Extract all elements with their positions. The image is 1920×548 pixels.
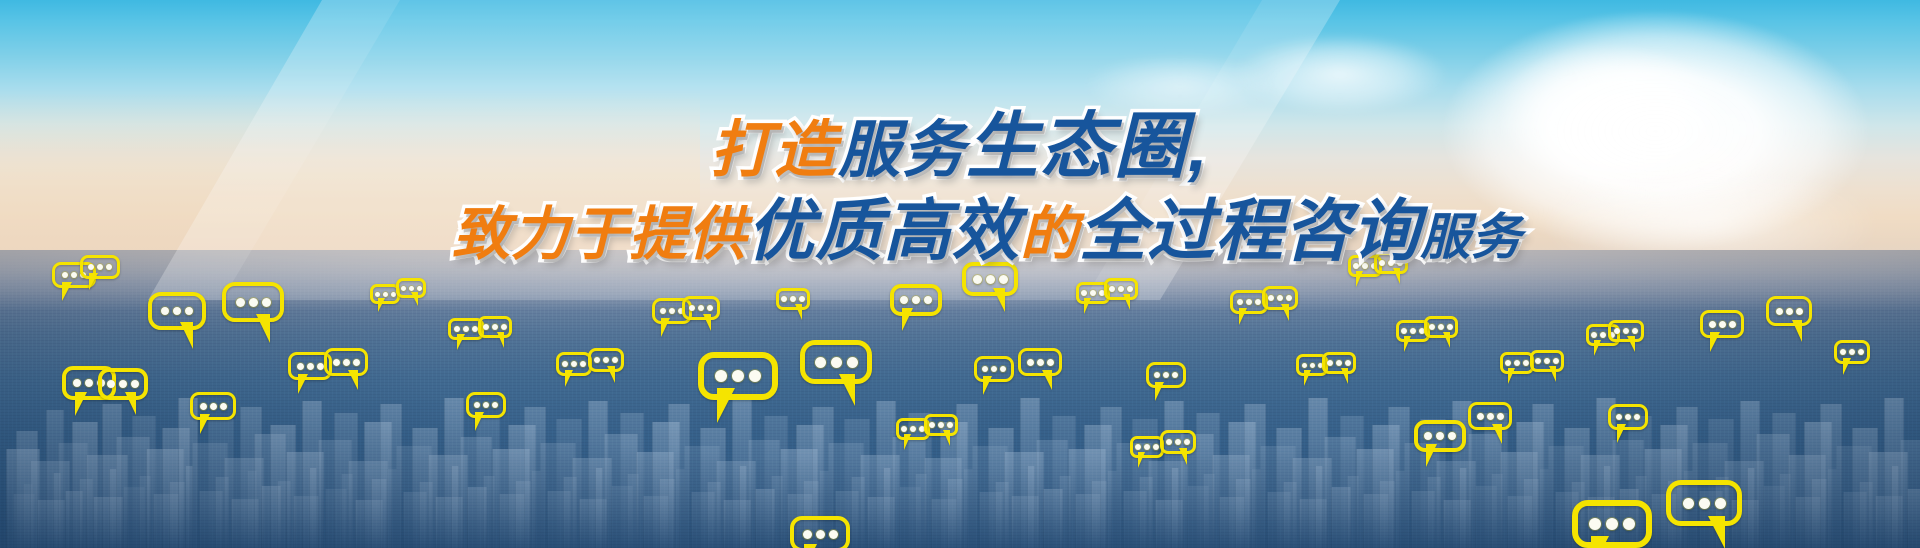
bubble-dot-icon: [1302, 363, 1307, 368]
bubble-tail-icon: [1179, 448, 1187, 465]
speech-bubble-icon: [890, 284, 942, 316]
bubble-dot-icon: [173, 307, 181, 315]
bubble-tail-icon: [1549, 366, 1556, 382]
bubble-dot-icon: [669, 308, 675, 314]
speech-bubble-icon: [1608, 320, 1644, 342]
speech-bubble-icon: [1530, 350, 1564, 372]
headline-line-2: 致力于提供优质高效的全过程咨询服务: [54, 198, 1920, 265]
bubble-dot-icon: [1544, 358, 1550, 364]
bubble-tail-icon: [1304, 370, 1311, 386]
bubble-dot-icon: [1729, 321, 1736, 328]
bubble-tail-icon: [1042, 370, 1052, 390]
bubble-dot-icon: [1448, 432, 1456, 440]
bubble-dot-icon: [131, 380, 139, 388]
bubble-tail-icon: [1138, 452, 1145, 468]
bubble-dot-icon: [973, 275, 982, 284]
bubble-tail-icon: [717, 388, 735, 423]
bubble-dot-icon: [912, 296, 920, 304]
bubble-dot-icon: [1487, 413, 1494, 420]
bubble-dot-icon: [1237, 299, 1243, 305]
bubble-dot-icon: [483, 402, 489, 408]
speech-bubble-icon: [1146, 362, 1186, 388]
bubble-dot-icon: [73, 379, 81, 387]
bubble-dot-icon: [249, 298, 258, 307]
bubble-dot-icon: [1840, 349, 1846, 355]
headline-segment: 优质高效: [747, 198, 1020, 265]
headline-segment: 打造: [710, 120, 838, 182]
bubble-tail-icon: [607, 366, 615, 383]
bubble-dot-icon: [492, 324, 498, 330]
bubble-tail-icon: [1393, 268, 1400, 284]
bubble-dot-icon: [929, 422, 935, 428]
bubble-dot-icon: [1109, 286, 1115, 292]
bubble-tail-icon: [475, 412, 484, 431]
bubble-dot-icon: [732, 370, 744, 382]
bubble-dot-icon: [781, 296, 787, 302]
speech-bubble-icon: [924, 414, 958, 436]
speech-bubble-icon: [478, 316, 512, 338]
speech-bubble-icon: [588, 348, 624, 372]
speech-bubble-icon: [790, 516, 850, 548]
speech-bubble-icon: [556, 352, 592, 376]
speech-bubble-icon: [682, 296, 720, 320]
bubble-dot-icon: [1286, 295, 1292, 301]
speech-bubble-icon: [776, 288, 810, 310]
speech-bubble-icon: [1834, 340, 1870, 364]
speech-bubble-icon: [98, 368, 148, 400]
bubble-dot-icon: [1424, 432, 1432, 440]
bubble-tail-icon: [565, 370, 573, 387]
bubble-dot-icon: [1535, 358, 1541, 364]
headline-block: 打造服务生态圈, 致力于提供优质高效的全过程咨询服务: [0, 112, 1920, 265]
bubble-dot-icon: [463, 326, 469, 332]
bubble-dot-icon: [297, 363, 304, 370]
bubble-dot-icon: [1623, 328, 1629, 334]
bubble-tail-icon: [457, 334, 465, 350]
headline-segment: 全过程咨询: [1079, 198, 1420, 265]
bubble-dot-icon: [409, 286, 414, 291]
bubble-tail-icon: [1710, 332, 1720, 352]
headline-segment: 致力于提供: [452, 206, 747, 264]
speech-bubble-icon: [800, 340, 872, 384]
bubble-dot-icon: [333, 359, 340, 366]
bubble-dot-icon: [1000, 366, 1006, 372]
bubble-dot-icon: [107, 380, 115, 388]
bubble-dot-icon: [999, 275, 1008, 284]
bubble-dot-icon: [1118, 286, 1124, 292]
headline-segment: 服务: [838, 120, 966, 182]
bubble-dot-icon: [847, 357, 858, 368]
bubble-dot-icon: [1429, 324, 1435, 330]
bubble-tail-icon: [904, 434, 911, 450]
bubble-dot-icon: [571, 361, 577, 367]
bubble-dot-icon: [1144, 444, 1150, 450]
hero-banner: 打造服务生态圈, 致力于提供优质高效的全过程咨询服务: [0, 0, 1920, 548]
bubble-tail-icon: [378, 298, 385, 312]
bubble-dot-icon: [1410, 328, 1416, 334]
speech-bubble-icon: [1500, 352, 1534, 374]
bubble-dot-icon: [1154, 372, 1160, 378]
bubble-dot-icon: [1514, 360, 1520, 366]
bubble-dot-icon: [594, 357, 600, 363]
bubble-dot-icon: [1401, 328, 1407, 334]
bubble-dot-icon: [85, 379, 93, 387]
speech-bubble-icon: [1018, 348, 1062, 376]
bubble-dot-icon: [1849, 349, 1855, 355]
bubble-dot-icon: [1699, 498, 1710, 509]
speech-bubble-icon: [466, 392, 506, 418]
bubble-dot-icon: [799, 296, 805, 302]
bubble-dot-icon: [603, 357, 609, 363]
bubble-dot-icon: [1436, 432, 1444, 440]
speech-bubble-icon: [1424, 316, 1458, 338]
speech-bubble-icon: [190, 392, 236, 420]
bubble-dot-icon: [1345, 360, 1351, 366]
bubble-dot-icon: [1715, 498, 1726, 509]
bubble-tail-icon: [1843, 358, 1851, 375]
bubble-dot-icon: [383, 292, 388, 297]
bubble-tail-icon: [993, 288, 1005, 312]
bubble-tail-icon: [1281, 304, 1289, 321]
bubble-dot-icon: [220, 403, 227, 410]
bubble-dot-icon: [986, 275, 995, 284]
bubble-tail-icon: [795, 304, 802, 320]
speech-bubble-icon: [1468, 402, 1512, 430]
bubble-dot-icon: [1175, 439, 1181, 445]
bubble-dot-icon: [71, 272, 77, 278]
speech-bubble-icon: [1104, 278, 1138, 300]
speech-bubble-icon: [1666, 480, 1742, 526]
bubble-dot-icon: [1719, 321, 1726, 328]
bubble-tail-icon: [497, 332, 504, 348]
bubble-dot-icon: [1776, 308, 1783, 315]
bubble-dot-icon: [698, 305, 704, 311]
bubble-dot-icon: [1277, 295, 1283, 301]
bubble-dot-icon: [1625, 414, 1631, 420]
bubble-dot-icon: [200, 403, 207, 410]
speech-bubble-icon: [148, 292, 206, 330]
bubble-tail-icon: [1708, 516, 1725, 548]
speech-bubble-icon: [1700, 310, 1744, 338]
bubble-tail-icon: [1341, 368, 1348, 384]
bubble-tail-icon: [62, 282, 72, 301]
bubble-tail-icon: [661, 318, 670, 337]
bubble-tail-icon: [75, 392, 87, 416]
bubble-dot-icon: [1523, 360, 1529, 366]
speech-bubble-icon: [698, 352, 778, 400]
bubble-dot-icon: [62, 272, 68, 278]
bubble-dot-icon: [562, 361, 568, 367]
speech-bubble-icon: [324, 348, 368, 376]
bubble-dot-icon: [1268, 295, 1274, 301]
bubble-dot-icon: [1606, 518, 1618, 530]
bubble-dot-icon: [831, 357, 842, 368]
bubble-tail-icon: [983, 376, 992, 395]
bubble-dot-icon: [1090, 290, 1096, 296]
bubble-dot-icon: [580, 361, 586, 367]
bubble-dot-icon: [790, 296, 796, 302]
bubble-dot-icon: [1135, 444, 1141, 450]
bubble-dot-icon: [1310, 363, 1315, 368]
bubble-tail-icon: [839, 374, 855, 406]
bubble-dot-icon: [1153, 444, 1159, 450]
bubble-dot-icon: [501, 324, 507, 330]
bubble-dot-icon: [1047, 359, 1054, 366]
bubble-dot-icon: [185, 307, 193, 315]
bubble-dot-icon: [901, 426, 907, 432]
bubble-dot-icon: [483, 324, 489, 330]
bubble-dot-icon: [829, 530, 838, 539]
speech-bubble-icon: [1572, 500, 1652, 548]
bubble-dot-icon: [1246, 299, 1252, 305]
bubble-dot-icon: [375, 292, 380, 297]
bubble-tail-icon: [411, 292, 418, 306]
bubble-dot-icon: [749, 370, 761, 382]
bubble-tail-icon: [200, 414, 210, 434]
headline-segment: 生态圈,: [966, 112, 1210, 184]
bubble-dot-icon: [161, 307, 169, 315]
bubble-dot-icon: [1255, 299, 1261, 305]
bubble-dot-icon: [1172, 372, 1178, 378]
bubble-tail-icon: [1617, 424, 1626, 443]
bubble-tail-icon: [256, 314, 270, 343]
bubble-dot-icon: [982, 366, 988, 372]
bubble-dot-icon: [1600, 332, 1606, 338]
bubble-tail-icon: [943, 430, 950, 446]
bubble-dot-icon: [815, 357, 826, 368]
bubble-dot-icon: [1614, 328, 1620, 334]
bubble-dot-icon: [417, 286, 422, 291]
bubble-dot-icon: [1796, 308, 1803, 315]
bubble-dot-icon: [612, 357, 618, 363]
bubble-dot-icon: [1127, 286, 1133, 292]
bubble-tail-icon: [902, 308, 913, 331]
bubble-tail-icon: [1426, 444, 1437, 467]
bubble-dot-icon: [317, 363, 324, 370]
bubble-dot-icon: [947, 422, 953, 428]
speech-bubble-icon: [1766, 296, 1812, 326]
bubble-dot-icon: [401, 286, 406, 291]
bubble-dot-icon: [924, 296, 932, 304]
bubble-dot-icon: [707, 305, 713, 311]
speech-bubble-icon: [222, 282, 284, 322]
bubble-dot-icon: [1786, 308, 1793, 315]
bubble-dot-icon: [715, 370, 727, 382]
bubble-dot-icon: [1163, 372, 1169, 378]
bubble-dot-icon: [1505, 360, 1511, 366]
bubble-dot-icon: [910, 426, 916, 432]
bubble-dot-icon: [1081, 290, 1087, 296]
bubble-dot-icon: [1327, 360, 1333, 366]
bubble-tail-icon: [180, 322, 193, 349]
bubble-dot-icon: [454, 326, 460, 332]
bubble-dot-icon: [1027, 359, 1034, 366]
bubble-dot-icon: [689, 305, 695, 311]
speech-bubble-icon: [1160, 430, 1196, 454]
bubble-dot-icon: [816, 530, 825, 539]
bubble-dot-icon: [1447, 324, 1453, 330]
bubble-dot-icon: [1709, 321, 1716, 328]
bubble-dot-icon: [210, 403, 217, 410]
speech-bubble-icon: [1414, 420, 1466, 452]
headline-segment: 的: [1020, 206, 1079, 264]
bubble-tail-icon: [1792, 320, 1802, 342]
bubble-dot-icon: [391, 292, 396, 297]
bubble-dot-icon: [900, 296, 908, 304]
bubble-dot-icon: [803, 530, 812, 539]
bubble-tail-icon: [1443, 332, 1450, 348]
bubble-tail-icon: [1492, 424, 1502, 444]
bubble-tail-icon: [1404, 336, 1411, 352]
speech-bubble-icon: [1322, 352, 1356, 374]
bubble-dot-icon: [1477, 413, 1484, 420]
bubble-tail-icon: [348, 370, 358, 390]
bubble-tail-icon: [1123, 294, 1130, 310]
bubble-dot-icon: [1438, 324, 1444, 330]
headline-segment: 服务: [1420, 213, 1522, 263]
bubble-dot-icon: [343, 359, 350, 366]
bubble-tail-icon: [1084, 298, 1091, 314]
bubble-dot-icon: [492, 402, 498, 408]
headline-line-1: 打造服务生态圈,: [0, 112, 1920, 184]
bubble-dot-icon: [1336, 360, 1342, 366]
bubble-dot-icon: [236, 298, 245, 307]
bubble-dot-icon: [1634, 414, 1640, 420]
bubble-dot-icon: [1553, 358, 1559, 364]
bubble-dot-icon: [1589, 518, 1601, 530]
bubble-dot-icon: [1632, 328, 1638, 334]
speech-bubble-icon: [1262, 286, 1298, 310]
bubble-tail-icon: [1508, 368, 1515, 384]
bubble-dot-icon: [1166, 439, 1172, 445]
speech-bubble-icon: [1608, 404, 1648, 430]
bubble-dot-icon: [1037, 359, 1044, 366]
bubble-dot-icon: [262, 298, 271, 307]
bubble-dot-icon: [938, 422, 944, 428]
bubble-tail-icon: [1594, 340, 1601, 356]
bubble-dot-icon: [1683, 498, 1694, 509]
bubble-dot-icon: [660, 308, 666, 314]
bubble-tail-icon: [1627, 336, 1635, 352]
bubble-tail-icon: [1155, 382, 1164, 401]
speech-bubble-icon: [974, 356, 1014, 382]
bubble-dot-icon: [307, 363, 314, 370]
bubble-tail-icon: [298, 374, 308, 394]
bubble-dot-icon: [353, 359, 360, 366]
bubble-tail-icon: [703, 314, 711, 331]
speech-bubble-icon: [396, 278, 426, 298]
bubble-tail-icon: [1591, 536, 1609, 548]
bubble-tail-icon: [1239, 308, 1247, 325]
bubble-dot-icon: [1184, 439, 1190, 445]
bubble-dot-icon: [991, 366, 997, 372]
bubble-tail-icon: [1356, 271, 1363, 287]
bubble-tail-icon: [804, 544, 817, 548]
bubble-dot-icon: [1858, 349, 1864, 355]
bubble-dot-icon: [1616, 414, 1622, 420]
bubble-dot-icon: [1497, 413, 1504, 420]
bubble-dot-icon: [119, 380, 127, 388]
bubble-tail-icon: [89, 273, 98, 290]
bubble-dot-icon: [1623, 518, 1635, 530]
bubble-dot-icon: [1591, 332, 1597, 338]
bubble-dot-icon: [474, 402, 480, 408]
bubble-tail-icon: [125, 392, 136, 415]
speech-bubble-icon: [1130, 436, 1164, 458]
